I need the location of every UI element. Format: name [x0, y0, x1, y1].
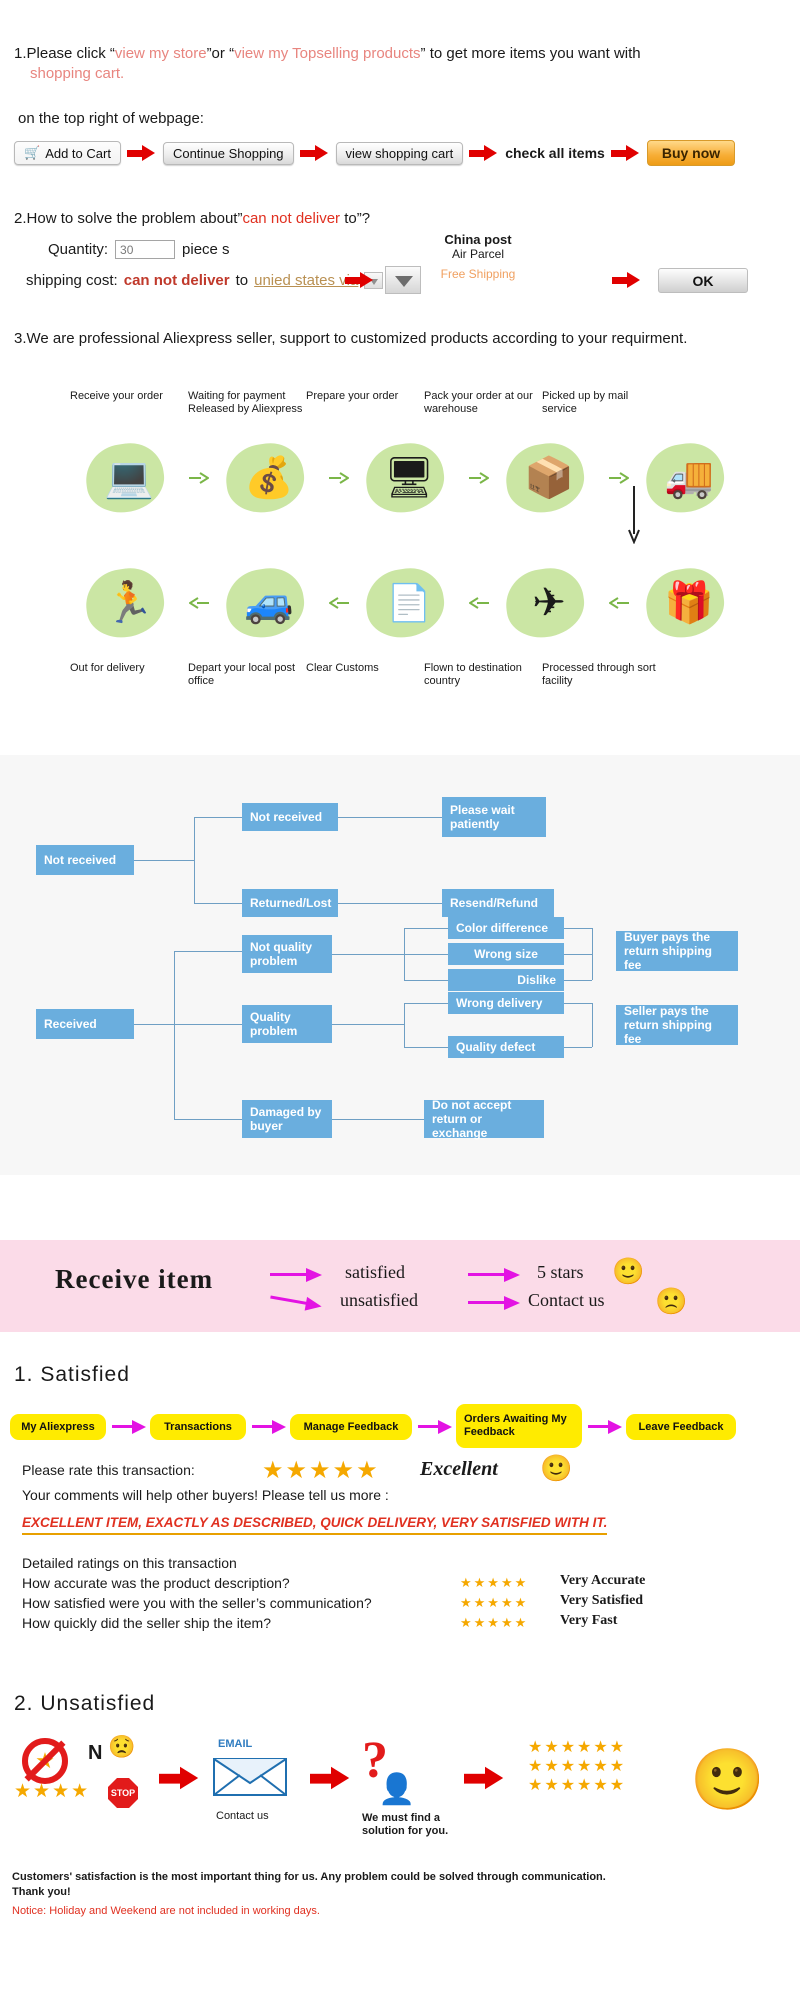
view-topselling-link[interactable]: view my Topselling products — [234, 45, 420, 62]
connector-line — [332, 954, 404, 955]
sad-face-icon: 🙁 — [655, 1288, 687, 1314]
process-label: Depart your local post office — [188, 662, 306, 688]
process-top-row: 💻 💰 🖥 📦 🚚 — [70, 430, 770, 525]
section1-subtitle: on the top right of webpage: — [18, 110, 204, 127]
process-bottom-labels: Out for delivery Depart your local post … — [70, 662, 770, 688]
flow-dislike: Dislike — [448, 969, 564, 991]
connector-line — [194, 817, 242, 818]
connector-line — [592, 1003, 593, 1047]
free-shipping-label: Free Shipping — [420, 268, 536, 281]
checkout-steps-row: 🛒 Add to Cart Continue Shopping view sho… — [14, 140, 735, 166]
arrow-right-icon — [468, 471, 490, 485]
process-step: 💰 — [210, 430, 328, 525]
worker-with-boxes-icon: 📦 — [524, 458, 574, 498]
arrow-right-icon — [159, 1767, 201, 1789]
no-label: N — [88, 1742, 102, 1765]
flow-received-root: Received — [36, 1009, 134, 1039]
computer-icon: 🖥 — [384, 458, 435, 498]
delivery-truck-icon: 🚚 — [664, 458, 714, 498]
contact-us-label: Contact us — [528, 1290, 605, 1311]
section1-text-c: ” to get more items you want with — [421, 45, 641, 62]
continue-shopping-label: Continue Shopping — [173, 146, 284, 161]
shipping-to-text: to — [236, 272, 249, 289]
satisfied-label: satisfied — [345, 1262, 405, 1283]
piece-label: piece s — [182, 241, 230, 258]
arrow-left-icon — [468, 596, 490, 610]
process-step: 🎁 — [630, 555, 748, 650]
parcel-sorting-icon: 🎁 — [664, 583, 714, 623]
detailed-ratings-heading: Detailed ratings on this transaction — [22, 1555, 237, 1571]
email-label: EMAIL — [218, 1738, 252, 1750]
connector-line — [592, 928, 593, 980]
connector-line — [404, 1003, 405, 1047]
flow-quality-defect: Quality defect — [448, 1036, 564, 1058]
person-icon: 👤 — [378, 1775, 415, 1805]
process-label: Processed through sort facility — [542, 662, 660, 688]
carrier-name: China post — [418, 232, 538, 247]
quantity-label: Quantity: — [48, 241, 108, 258]
connector-line — [564, 980, 592, 981]
connector-line — [564, 928, 592, 929]
section1-shopping-cart-text: shopping cart. — [30, 65, 124, 82]
rating-stars[interactable]: ★★★★★ — [262, 1456, 380, 1485]
process-label: Receive your order — [70, 390, 188, 416]
step-leave-feedback[interactable]: Leave Feedback — [626, 1414, 736, 1440]
flow-buyer-pays: Buyer pays the return shipping fee — [616, 931, 738, 971]
stop-sign-icon: STOP — [108, 1778, 138, 1808]
section2-heading: 2.How to solve the problem about”can not… — [14, 210, 370, 227]
connector-line — [404, 980, 448, 981]
step-orders-awaiting-feedback[interactable]: Orders Awaiting My Feedback — [456, 1404, 582, 1448]
contact-us-caption: Contact us — [216, 1810, 269, 1822]
rating-word: Excellent — [420, 1458, 498, 1481]
shipping-cost-row: shipping cost: can not deliver to unied … — [26, 272, 383, 289]
comments-prompt: Your comments will help other buyers! Pl… — [22, 1487, 389, 1503]
section2-heading-red: can not deliver — [242, 210, 340, 227]
process-step: 🏃 — [70, 555, 188, 650]
cannot-deliver-text: can not deliver — [124, 272, 230, 289]
arrow-right-icon — [464, 1767, 506, 1789]
connector-line — [174, 951, 242, 952]
process-top-labels: Receive your order Waiting for payment R… — [70, 390, 770, 416]
arrow-right-icon — [269, 1291, 323, 1314]
satisfaction-note: Customers' satisfaction is the most impo… — [12, 1870, 632, 1900]
section1-text-b: ”or “ — [207, 45, 235, 62]
arrow-right-icon — [469, 145, 499, 161]
arrow-right-icon — [112, 1420, 146, 1434]
arrow-right-icon — [468, 1268, 520, 1282]
process-label: Picked up by mail service — [542, 390, 660, 416]
step-my-aliexpress[interactable]: My Aliexpress — [10, 1414, 106, 1440]
detail-stars: ★★★★★ — [460, 1595, 528, 1611]
receive-item-title: Receive item — [55, 1264, 213, 1295]
view-shopping-cart-button[interactable]: view shopping cart — [336, 142, 464, 165]
process-step: 🖥 — [350, 430, 468, 525]
arrow-right-icon — [270, 1268, 322, 1282]
arrow-right-icon — [188, 471, 210, 485]
arrow-right-icon — [418, 1420, 452, 1434]
section2-heading-a: How to solve the problem about” — [27, 210, 243, 227]
star-row: ★★★★★★ — [528, 1757, 626, 1776]
view-my-store-link[interactable]: view my store — [115, 45, 207, 62]
flow-not-received-root: Not received — [36, 845, 134, 875]
section3-heading: 3.We are professional Aliexpress seller,… — [14, 330, 687, 347]
connector-line — [564, 1003, 592, 1004]
process-step: 🚚 — [630, 430, 748, 525]
section1-line1: 1.Please click “view my store”or “view m… — [14, 45, 641, 62]
connector-line — [174, 951, 175, 1119]
flow-returned-lost: Returned/Lost — [242, 889, 338, 917]
unsatisfied-label: unsatisfied — [340, 1290, 418, 1311]
continue-shopping-button[interactable]: Continue Shopping — [163, 142, 294, 165]
email-envelope-icon — [210, 1745, 290, 1797]
arrow-left-icon — [608, 596, 630, 610]
detail-answer: Very Fast — [560, 1613, 617, 1629]
flow-quality-problem: Quality problem — [242, 1005, 332, 1043]
process-label: Pack your order at our warehouse — [424, 390, 542, 416]
section1-number: 1. — [14, 45, 27, 62]
receive-item-band: Receive item satisfied unsatisfied 5 sta… — [0, 1240, 800, 1332]
product-description-page: 1.Please click “view my store”or “view m… — [0, 0, 800, 2000]
shopping-cart-icon: 🛒 — [24, 145, 40, 161]
flow-wrong-size: Wrong size — [448, 943, 564, 965]
section2-heading-b: to”? — [340, 210, 370, 227]
process-label: Flown to destination country — [424, 662, 542, 688]
check-all-items-label: check all items — [505, 145, 605, 161]
running-courier-icon: 🏃 — [104, 583, 154, 623]
worried-face-icon: 😟 — [108, 1736, 135, 1758]
add-to-cart-button[interactable]: 🛒 Add to Cart — [14, 141, 121, 165]
connector-line — [404, 1003, 448, 1004]
connector-line — [332, 1119, 424, 1120]
process-label: Clear Customs — [306, 662, 424, 688]
flow-not-received-branch: Not received — [242, 803, 338, 831]
shipping-process-diagram: Receive your order Waiting for payment R… — [0, 390, 800, 730]
van-icon: 🚙 — [244, 583, 294, 623]
connector-line — [564, 1047, 592, 1048]
arrow-right-icon — [468, 1296, 520, 1310]
low-rating-stars: ★★★★ — [14, 1780, 90, 1803]
big-smiley-icon: 🙂 — [690, 1750, 765, 1810]
connector-line — [134, 860, 194, 861]
step-manage-feedback[interactable]: Manage Feedback — [290, 1414, 412, 1440]
connector-line — [194, 903, 242, 904]
flow-do-not-accept: Do not accept return or exchange — [424, 1100, 544, 1138]
detail-stars: ★★★★★ — [460, 1615, 528, 1631]
feedback-comment-text: EXCELLENT ITEM, EXACTLY AS DESCRIBED, QU… — [22, 1515, 607, 1535]
connector-line — [332, 1024, 404, 1025]
star-row: ★★★★★★ — [528, 1738, 626, 1757]
flow-wrong-delivery: Wrong delivery — [448, 992, 564, 1014]
process-label: Out for delivery — [70, 662, 188, 688]
satisfied-heading: 1. Satisfied — [14, 1363, 130, 1387]
connector-line — [194, 817, 195, 903]
stop-label: STOP — [111, 1788, 135, 1798]
return-policy-flowchart: Not received Not received Returned/Lost … — [0, 755, 800, 1175]
process-label: Waiting for payment Released by Aliexpre… — [188, 390, 306, 416]
star-row: ★★★★★★ — [528, 1776, 626, 1795]
flow-color-difference: Color difference — [448, 917, 564, 939]
arrow-right-icon — [611, 145, 641, 161]
arrow-right-icon — [300, 145, 330, 161]
detail-stars: ★★★★★ — [460, 1575, 528, 1591]
connector-line — [338, 817, 442, 818]
arrow-right-icon — [127, 145, 157, 161]
process-step: 💻 — [70, 430, 188, 525]
view-shopping-cart-label: view shopping cart — [346, 146, 454, 161]
process-label: Prepare your order — [306, 390, 424, 416]
five-stars-label: 5 stars — [537, 1262, 584, 1283]
money-bag-icon: 💰 — [244, 458, 294, 498]
process-step: 📄 — [350, 555, 468, 650]
connector-line — [134, 1024, 174, 1025]
connector-line — [564, 954, 592, 955]
holiday-notice: Notice: Holiday and Weekend are not incl… — [12, 1905, 320, 1917]
shipping-cost-label: shipping cost: — [26, 272, 118, 289]
detail-answer: Very Accurate — [560, 1573, 645, 1589]
process-bottom-row: 🏃 🚙 📄 ✈ 🎁 — [70, 555, 770, 650]
carrier-service: Air Parcel — [418, 247, 538, 261]
detail-question: How satisfied were you with the seller’s… — [22, 1595, 372, 1611]
section1-text-a: Please click “ — [27, 45, 115, 62]
flow-not-quality-problem: Not quality problem — [242, 935, 332, 973]
ok-button[interactable]: OK — [658, 268, 748, 293]
arrow-down-icon — [627, 486, 641, 549]
process-step: 📦 — [490, 430, 608, 525]
connector-line — [404, 954, 448, 955]
star-rating-block: ★★★★★★ ★★★★★★ ★★★★★★ — [528, 1738, 626, 1795]
arrow-right-icon — [588, 1420, 622, 1434]
arrow-right-icon — [328, 471, 350, 485]
solution-caption: We must find a solution for you. — [362, 1812, 462, 1838]
connector-line — [404, 928, 448, 929]
destination-select[interactable]: unied states via — [254, 272, 358, 289]
arrow-right-icon — [612, 272, 642, 288]
arrow-right-icon — [345, 272, 375, 288]
add-to-cart-label: Add to Cart — [45, 146, 111, 161]
step-transactions[interactable]: Transactions — [150, 1414, 246, 1440]
no-rating-icon: ★ — [22, 1738, 68, 1784]
section3-text: We are professional Aliexpress seller, s… — [27, 330, 688, 347]
flow-seller-pays: Seller pays the return shipping fee — [616, 1005, 738, 1045]
process-step: 🚙 — [210, 555, 328, 650]
shipping-method-dropdown[interactable] — [385, 266, 421, 294]
unsatisfied-heading: 2. Unsatisfied — [14, 1692, 155, 1716]
detail-question: How quickly did the seller ship the item… — [22, 1615, 271, 1631]
arrow-right-icon — [252, 1420, 286, 1434]
arrow-right-icon — [310, 1767, 352, 1789]
detail-answer: Very Satisfied — [560, 1593, 643, 1609]
connector-line — [174, 1119, 242, 1120]
happy-face-icon: 🙂 — [612, 1258, 644, 1284]
connector-line — [174, 1024, 242, 1025]
connector-line — [338, 903, 442, 904]
arrow-left-icon — [188, 596, 210, 610]
quantity-row: Quantity: 30 piece s — [48, 240, 230, 259]
section3-number: 3. — [14, 330, 27, 347]
rate-transaction-prompt: Please rate this transaction: — [22, 1462, 195, 1478]
flow-damaged-by-buyer: Damaged by buyer — [242, 1100, 332, 1138]
carrier-info: China post Air Parcel — [418, 232, 538, 261]
buy-now-button[interactable]: Buy now — [647, 140, 735, 166]
flow-please-wait: Please wait patiently — [442, 797, 546, 837]
star-icon: ★ — [35, 1748, 55, 1774]
section2-number: 2. — [14, 210, 27, 227]
airplane-icon: ✈ — [532, 583, 566, 623]
arrow-left-icon — [328, 596, 350, 610]
detail-question: How accurate was the product description… — [22, 1575, 290, 1591]
arrow-right-icon — [608, 471, 630, 485]
happy-face-icon: 🙂 — [540, 1455, 572, 1481]
connector-line — [404, 1047, 448, 1048]
flow-resend-refund: Resend/Refund — [442, 889, 554, 917]
person-at-desk-icon: 💻 — [104, 458, 154, 498]
customs-stamp-icon: 📄 — [387, 585, 432, 621]
quantity-input[interactable]: 30 — [115, 240, 175, 259]
process-step: ✈ — [490, 555, 608, 650]
